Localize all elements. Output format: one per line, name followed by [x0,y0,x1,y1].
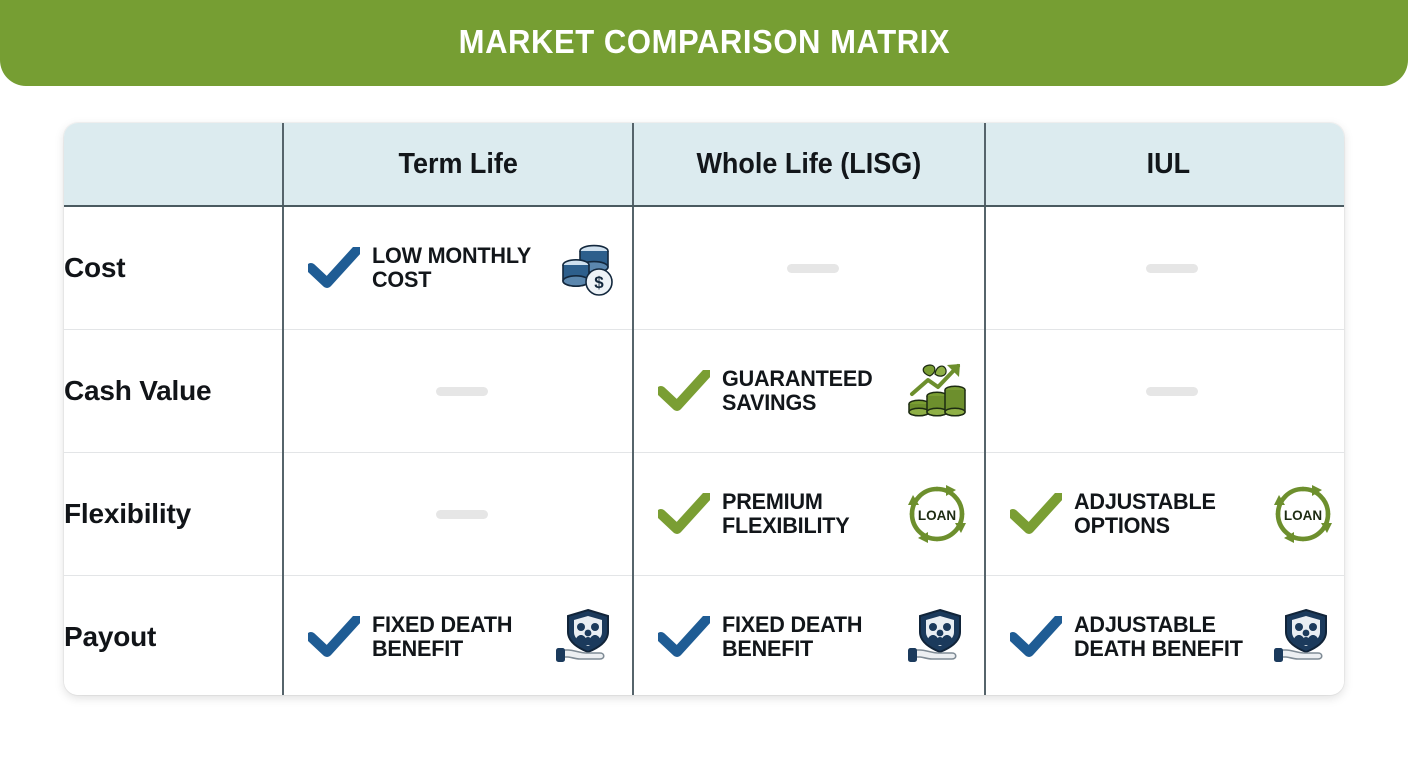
column-header-whole-life: Whole Life (LISG) [633,123,985,206]
table-row: Payout FIXED DEATH BENEFIT [64,576,1344,696]
loan-cycle-icon: LOAN [906,483,968,545]
empty-dash-icon [436,510,488,519]
row-label-cell-payout: Payout [64,576,283,696]
table-header-row: Term Life Whole Life (LISG) IUL [64,123,1344,206]
column-header-iul: IUL [985,123,1344,206]
empty-dash-icon [1146,264,1198,273]
green-checkmark-icon [1010,493,1062,535]
row-label-cell-flexibility: Flexibility [64,453,283,576]
hand-shield-family-icon [1272,606,1334,668]
blue-checkmark-icon [1010,616,1062,658]
cell-flexibility-term-life [283,453,633,576]
row-label-cell-cost: Cost [64,206,283,330]
hand-shield-family-icon [906,606,968,668]
cell-cost-whole-life [633,206,985,330]
cell-cost-term-life: LOW MONTHLY COST $ [283,206,633,330]
cell-text: PREMIUM FLEXIBILITY [722,490,850,539]
cell-flexibility-iul: ADJUSTABLE OPTIONS [985,453,1344,576]
table-row: Cash Value GUARANTEED SAVINGS [64,330,1344,453]
cell-payout-whole-life: FIXED DEATH BENEFIT [633,576,985,696]
corner-header-cell [64,123,283,206]
cell-flexibility-whole-life: PREMIUM FLEXIBILITY [633,453,985,576]
table-row: Flexibility PREMIUM FLEXIBILITY [64,453,1344,576]
row-label: Cash Value [64,375,211,406]
column-header-label: IUL [1146,148,1189,181]
blue-checkmark-icon [658,616,710,658]
loan-cycle-icon: LOAN [1272,483,1334,545]
comparison-matrix-table: Term Life Whole Life (LISG) IUL Cost [64,123,1344,695]
row-label: Flexibility [64,498,191,529]
cell-payout-iul: ADJUSTABLE DEATH BENEFIT [985,576,1344,696]
empty-dash-icon [787,264,839,273]
growth-savings-icon [906,360,968,422]
dollar-symbol-label: $ [594,273,604,292]
empty-dash-icon [1146,387,1198,396]
cell-text: FIXED DEATH BENEFIT [722,613,862,662]
green-checkmark-icon [658,370,710,412]
table-header: Term Life Whole Life (LISG) IUL [64,123,1344,206]
row-label: Cost [64,252,125,283]
page-banner: MARKET COMPARISON MATRIX [0,0,1408,86]
cell-payout-term-life: FIXED DEATH BENEFIT [283,576,633,696]
comparison-matrix-card: Term Life Whole Life (LISG) IUL Cost [64,123,1344,695]
cell-cash-value-whole-life: GUARANTEED SAVINGS [633,330,985,453]
column-header-label: Whole Life (LISG) [697,148,922,181]
cell-text: FIXED DEATH BENEFIT [372,613,512,662]
empty-dash-icon [436,387,488,396]
blue-checkmark-icon [308,247,360,289]
cell-cost-iul [985,206,1344,330]
cell-text: LOW MONTHLY COST [372,244,531,293]
row-label-cell-cash-value: Cash Value [64,330,283,453]
table-body: Cost LOW MONTHLY COST [64,206,1344,695]
cell-text: ADJUSTABLE DEATH BENEFIT [1074,613,1243,662]
cell-text: ADJUSTABLE OPTIONS [1074,490,1216,539]
blue-checkmark-icon [308,616,360,658]
table-row: Cost LOW MONTHLY COST [64,206,1344,330]
row-label: Payout [64,621,156,652]
coin-stack-dollar-icon: $ [554,237,616,299]
loan-label: LOAN [1284,508,1322,523]
cell-cash-value-iul [985,330,1344,453]
column-header-label: Term Life [398,148,517,181]
green-checkmark-icon [658,493,710,535]
column-header-term-life: Term Life [283,123,633,206]
cell-text: GUARANTEED SAVINGS [722,367,872,416]
loan-label: LOAN [918,508,956,523]
cell-cash-value-term-life [283,330,633,453]
page-title: MARKET COMPARISON MATRIX [458,25,949,62]
hand-shield-family-icon [554,606,616,668]
